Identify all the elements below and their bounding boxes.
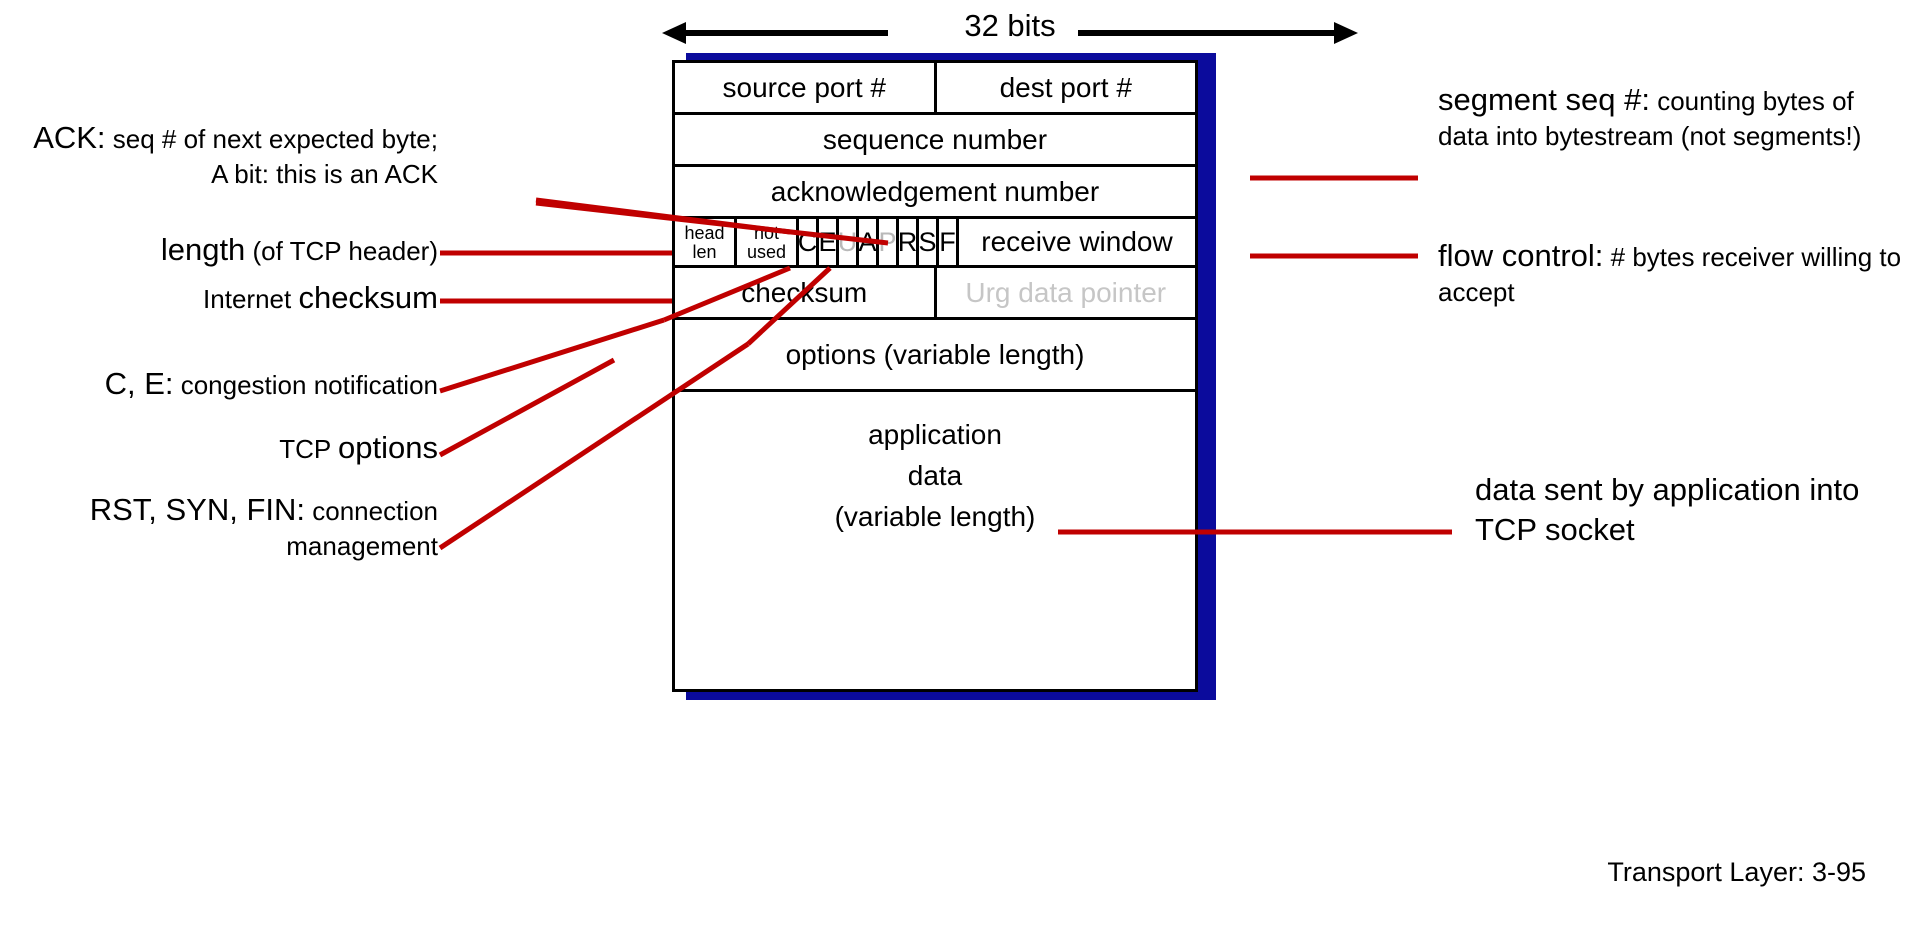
flag-bit-a: A [859,219,879,265]
field-acknowledgement-number: acknowledgement number [675,167,1195,216]
row-application-data: application data (variable length) [675,392,1195,692]
field-checksum: checksum [675,268,937,317]
flag-bit-u: U [839,219,859,265]
annotation-data-sent-lead: data sent by application into TCP socket [1475,472,1859,547]
annotation-segment-seq: segment seq #: counting bytes of data in… [1438,80,1908,153]
row-ports: source port # dest port # [675,63,1195,115]
annotation-congestion-body: congestion notification [173,370,438,400]
head-len-line2: len [692,243,716,262]
annotation-connection-management: RST, SYN, FIN: connection management [18,490,438,563]
annotation-ack: ACK: seq # of next expected byte; A bit:… [18,118,438,191]
annotation-checksum-lead: Internet [203,284,298,314]
annotation-tcp-options: TCP options [18,428,438,468]
slide-footer-label: Transport Layer: 3-95 [1206,857,1866,888]
head-len-line1: head [684,224,724,243]
width-measure: 32 bits [660,6,1360,60]
not-used-line2: used [747,243,786,262]
field-options: options (variable length) [675,320,1195,389]
row-acknowledgement-number: acknowledgement number [675,167,1195,219]
flag-bit-e: E [819,219,839,265]
annotation-length-body: (of TCP header) [245,236,438,266]
annotation-flow-control: flow control: # bytes receiver willing t… [1438,236,1908,309]
annotation-tcp-options-body: options [338,430,438,465]
annotation-length-lead: length [161,232,245,267]
annotation-length: length (of TCP header) [60,230,438,270]
flag-bit-s: S [919,219,939,265]
annotation-data-sent: data sent by application into TCP socket [1475,470,1895,549]
field-sequence-number: sequence number [675,115,1195,164]
annotation-segment-seq-lead: segment seq #: [1438,82,1650,117]
row-flags: head len not used C E U A P R S F receiv… [675,219,1195,268]
leader-tcp-options [440,360,614,455]
field-source-port: source port # [675,63,937,112]
width-measure-label: 32 bits [660,6,1360,46]
annotation-checksum: Internet checksum [60,278,438,318]
annotation-ack-body: seq # of next expected byte; A bit: this… [106,124,438,189]
field-head-len: head len [675,219,737,265]
app-data-line1: application [675,414,1195,455]
not-used-line1: not [754,224,779,243]
annotation-congestion-lead: C, E: [105,366,174,401]
app-data-line2: data [675,455,1195,496]
row-options: options (variable length) [675,320,1195,392]
annotation-checksum-body: checksum [298,280,438,315]
segment-box: source port # dest port # sequence numbe… [672,60,1198,692]
field-receive-window: receive window [959,219,1195,265]
row-sequence-number: sequence number [675,115,1195,167]
annotation-tcp-options-lead: TCP [279,434,338,464]
field-dest-port: dest port # [937,63,1196,112]
annotation-connection-management-body: connection management [286,496,438,561]
field-urg-data-pointer: Urg data pointer [937,268,1196,317]
tcp-segment-diagram: source port # dest port # sequence numbe… [672,60,1202,880]
annotation-connection-management-lead: RST, SYN, FIN: [90,492,305,527]
annotation-ack-lead: ACK: [33,120,105,155]
flags-group: head len not used C E U A P R S F [675,219,959,265]
flag-bit-r: R [899,219,919,265]
app-data-line3: (variable length) [675,496,1195,537]
field-not-used: not used [737,219,799,265]
row-checksum: checksum Urg data pointer [675,268,1195,320]
flag-bit-c: C [799,219,819,265]
leader-congestion-a [440,320,664,391]
field-application-data: application data (variable length) [675,392,1195,689]
flag-bit-p: P [879,219,899,265]
annotation-flow-control-lead: flow control: [1438,238,1603,273]
flag-bit-f: F [939,219,959,265]
annotation-congestion: C, E: congestion notification [18,364,438,404]
